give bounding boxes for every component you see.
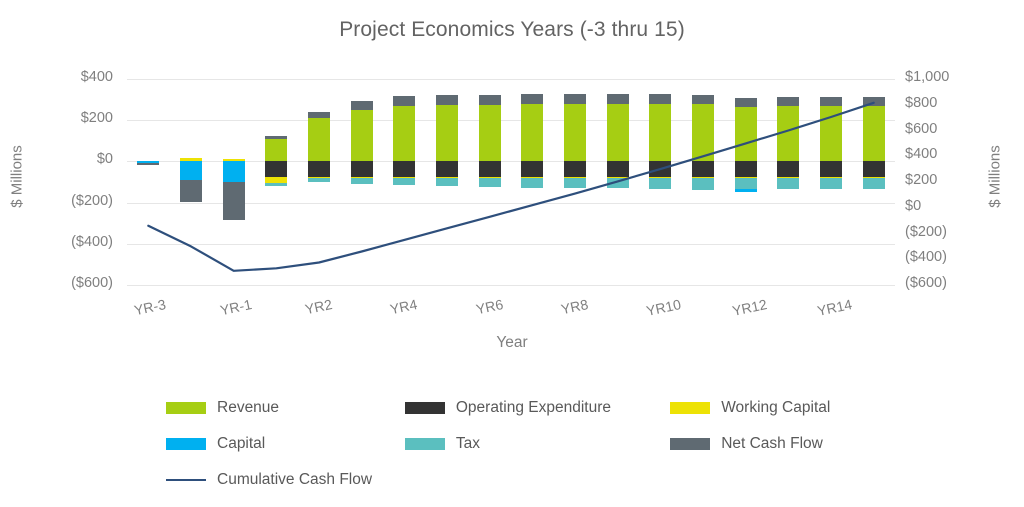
- legend-item[interactable]: Operating Expenditure: [405, 399, 670, 417]
- primary-y-axis-title: $ Millions: [9, 127, 26, 227]
- x-axis-title: Year: [0, 334, 1024, 352]
- legend-label: Tax: [456, 435, 480, 453]
- legend-row: RevenueOperating ExpenditureWorking Capi…: [166, 390, 866, 426]
- secondary-y-tick-label: $200: [905, 172, 937, 188]
- legend-label: Operating Expenditure: [456, 399, 611, 417]
- legend-line-icon: [166, 479, 206, 481]
- legend-item[interactable]: Tax: [405, 435, 670, 453]
- primary-y-tick-label: $400: [81, 69, 113, 85]
- x-tick-label: YR12: [730, 296, 768, 319]
- legend-item[interactable]: Revenue: [166, 399, 405, 417]
- primary-y-tick-label: $0: [97, 151, 113, 167]
- legend-label: Net Cash Flow: [721, 435, 823, 453]
- x-tick-label: YR14: [816, 296, 854, 319]
- x-tick-label: YR8: [560, 296, 590, 317]
- chart-legend: RevenueOperating ExpenditureWorking Capi…: [166, 390, 866, 498]
- x-tick-label: YR-3: [133, 296, 168, 318]
- chart-title: Project Economics Years (-3 thru 15): [0, 18, 1024, 42]
- legend-label: Working Capital: [721, 399, 830, 417]
- x-tick-label: YR2: [304, 296, 334, 317]
- legend-item[interactable]: Cumulative Cash Flow: [166, 471, 410, 489]
- secondary-y-tick-label: ($400): [905, 249, 947, 265]
- legend-swatch-icon: [670, 402, 710, 414]
- gridline: [127, 285, 895, 286]
- legend-swatch-icon: [405, 402, 445, 414]
- primary-y-tick-label: ($600): [71, 275, 113, 291]
- legend-row: CapitalTaxNet Cash Flow: [166, 426, 866, 462]
- x-tick-label: YR10: [645, 296, 683, 319]
- secondary-y-tick-label: $800: [905, 95, 937, 111]
- plot-area: [127, 79, 895, 285]
- x-tick-label: YR-1: [218, 296, 253, 318]
- legend-label: Capital: [217, 435, 265, 453]
- secondary-y-tick-label: ($200): [905, 224, 947, 240]
- secondary-y-tick-label: $600: [905, 121, 937, 137]
- x-tick-label: YR6: [474, 296, 504, 317]
- legend-label: Cumulative Cash Flow: [217, 471, 372, 489]
- secondary-y-tick-label: $1,000: [905, 69, 949, 85]
- secondary-y-tick-label: $400: [905, 146, 937, 162]
- legend-item[interactable]: Capital: [166, 435, 405, 453]
- primary-y-tick-label: ($200): [71, 193, 113, 209]
- primary-y-tick-label: $200: [81, 110, 113, 126]
- cumulative-cash-flow-line: [127, 79, 895, 285]
- legend-row: Cumulative Cash Flow: [166, 462, 866, 498]
- x-tick-label: YR4: [389, 296, 419, 317]
- legend-swatch-icon: [166, 438, 206, 450]
- legend-swatch-icon: [166, 402, 206, 414]
- secondary-y-tick-label: $0: [905, 198, 921, 214]
- legend-swatch-icon: [670, 438, 710, 450]
- secondary-y-axis-title: $ Millions: [987, 127, 1004, 227]
- secondary-y-tick-label: ($600): [905, 275, 947, 291]
- legend-item[interactable]: Net Cash Flow: [670, 435, 866, 453]
- legend-swatch-icon: [405, 438, 445, 450]
- legend-label: Revenue: [217, 399, 279, 417]
- legend-item[interactable]: Working Capital: [670, 399, 866, 417]
- secondary-y-axis: $1,000$800$600$400$200$0($200)($400)($60…: [905, 79, 985, 285]
- primary-y-tick-label: ($400): [71, 234, 113, 250]
- project-economics-chart: Project Economics Years (-3 thru 15) $40…: [0, 0, 1024, 507]
